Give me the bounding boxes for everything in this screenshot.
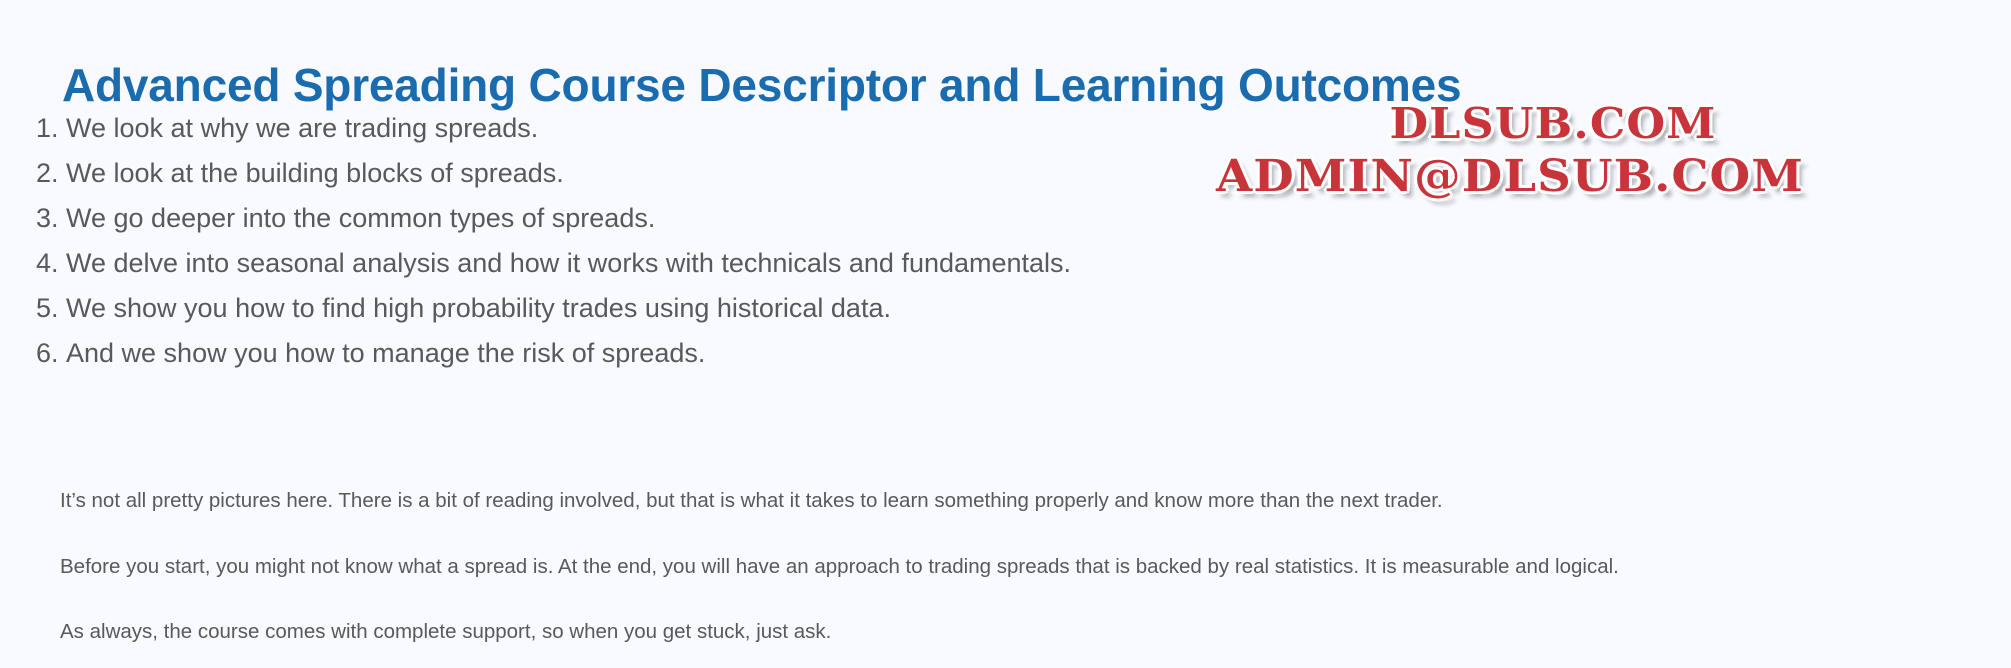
closing-paragraphs: It’s not all pretty pictures here. There… [60,486,1990,647]
list-item-number: 6. [36,331,66,376]
closing-paragraph: As always, the course comes with complet… [60,617,1990,647]
list-item: 1. We look at why we are trading spreads… [36,106,1071,151]
watermark: DLSUB.COM ADMIN@DLSUB.COM [1030,98,1990,208]
list-item: 3. We go deeper into the common types of… [36,196,1071,241]
list-item: 6. And we show you how to manage the ris… [36,331,1071,376]
list-item-number: 3. [36,196,66,241]
list-item-label: We show you how to find high probability… [66,286,891,331]
list-item-number: 4. [36,241,66,286]
list-item-label: We delve into seasonal analysis and how … [66,241,1071,286]
list-item: 5. We show you how to find high probabil… [36,286,1071,331]
list-item-label: We look at the building blocks of spread… [66,151,564,196]
list-item: 2. We look at the building blocks of spr… [36,151,1071,196]
list-item-label: We look at why we are trading spreads. [66,106,538,151]
learning-outcomes-list: 1. We look at why we are trading spreads… [36,106,1071,376]
list-item-label: We go deeper into the common types of sp… [66,196,655,241]
list-item-number: 1. [36,106,66,151]
page-root: Advanced Spreading Course Descriptor and… [0,0,2011,668]
list-item: 4. We delve into seasonal analysis and h… [36,241,1071,286]
list-item-label: And we show you how to manage the risk o… [66,331,705,376]
closing-paragraph: It’s not all pretty pictures here. There… [60,486,1990,516]
list-item-number: 2. [36,151,66,196]
watermark-email-text: ADMIN@DLSUB.COM [1001,150,2011,204]
closing-paragraph: Before you start, you might not know wha… [60,552,1990,582]
list-item-number: 5. [36,286,66,331]
